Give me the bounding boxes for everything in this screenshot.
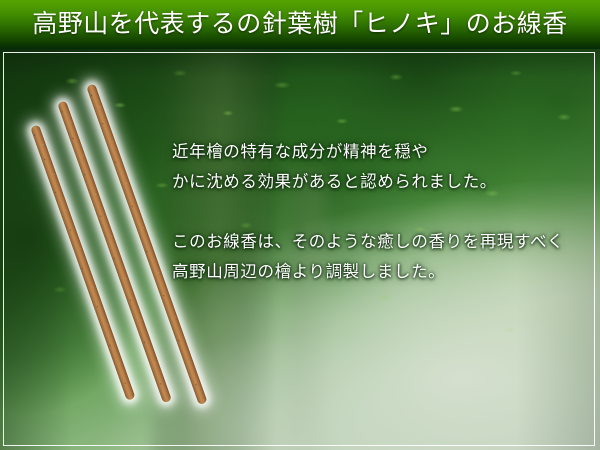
paragraph-2-line-1: このお線香は、そのような癒しの香りを再現すべく <box>172 227 572 257</box>
page-title: 高野山を代表するの針葉樹「ヒノキ」のお線香 <box>0 5 600 43</box>
paragraph-1-line-2: かに沈める効果があると認められました。 <box>172 167 572 197</box>
header-banner: 高野山を代表するの針葉樹「ヒノキ」のお線香 <box>0 0 600 49</box>
paragraph-1: 近年檜の特有な成分が精神を穏や かに沈める効果があると認められました。 <box>172 137 572 197</box>
paragraph-1-line-1: 近年檜の特有な成分が精神を穏や <box>172 137 572 167</box>
incense-product-banner: 高野山を代表するの針葉樹「ヒノキ」のお線香 近年檜の特有な成分が精神を穏や かに… <box>0 0 600 450</box>
paragraph-2-line-2: 高野山周辺の檜より調製しました。 <box>172 257 572 287</box>
forest-photo: 近年檜の特有な成分が精神を穏や かに沈める効果があると認められました。 このお線… <box>0 49 600 450</box>
description-text: 近年檜の特有な成分が精神を穏や かに沈める効果があると認められました。 このお線… <box>172 137 572 287</box>
paragraph-2: このお線香は、そのような癒しの香りを再現すべく 高野山周辺の檜より調製しました。 <box>172 227 572 287</box>
